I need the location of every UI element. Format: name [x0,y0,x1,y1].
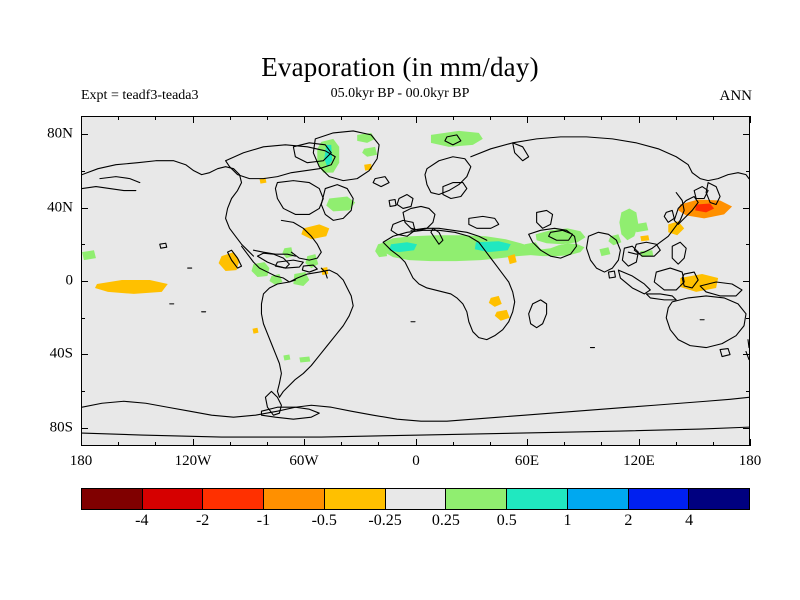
x-tick-major [304,439,305,446]
x-tick-minor-top [676,116,677,120]
y-tick-minor [81,171,85,172]
coast-australia [666,296,746,348]
coast-java [646,294,676,300]
x-tick-minor-top [378,116,379,120]
anomaly-bengal-speck [640,235,649,241]
colorbar-tick-label: 1 [564,512,572,530]
coast-tasmania [720,349,730,357]
x-axis-label: 180 [70,453,93,470]
x-tick-major [193,439,194,446]
x-tick-minor-top [713,116,714,120]
y-axis-label: 40N [19,200,73,217]
x-tick-major-top [639,116,640,123]
colorbar-segment [568,489,629,509]
y-tick-major-right [743,208,750,209]
colorbar-tick-label: -0.5 [312,512,337,530]
coast-british-isles [397,195,413,209]
coast-bering [100,177,140,183]
x-tick-minor-top [341,116,342,120]
colorbar-segment [264,489,325,509]
x-tick-minor [341,442,342,446]
x-tick-minor-top [564,116,565,120]
colorbar-segment [325,489,386,509]
anomaly-greenland-east [357,133,375,143]
colorbar-segment [82,489,143,509]
coast-novaya-zemlya [513,143,529,161]
anomaly-bayofbengal-green [599,247,610,256]
coast-weddell [261,407,319,419]
y-tick-major [81,281,88,282]
colorbar-tick-label: -4 [135,512,148,530]
coast-alaska [82,161,253,256]
x-tick-major [81,439,82,446]
coast-sri-lanka [608,271,615,278]
y-axis-label: 40S [19,346,73,363]
y-tick-major [81,208,88,209]
coast-baltic [443,183,467,199]
y-tick-minor-right [746,171,750,172]
anomaly-north-atlantic [326,197,355,212]
x-tick-minor-top [490,116,491,120]
coast-siberia-east [692,173,749,181]
colorbar-tick-label: 4 [685,512,693,530]
page-title: Evaporation (in mm/day) [0,52,800,83]
y-tick-minor-right [746,391,750,392]
colorbar-tick-label: 2 [624,512,632,530]
x-tick-minor-top [453,116,454,120]
x-tick-minor [230,442,231,446]
x-tick-minor [378,442,379,446]
coast-south-america [261,270,353,397]
x-tick-major-top [193,116,194,123]
experiment-label: Expt = teadf3-teada3 [81,88,199,104]
x-tick-minor [118,442,119,446]
coast-caspian [537,210,553,228]
y-tick-minor [81,318,85,319]
x-tick-minor [155,442,156,446]
anomaly-zambia [495,310,510,321]
coast-scandinavia [425,157,471,195]
colorbar-tick-label: -0.25 [368,512,401,530]
y-tick-major [81,134,88,135]
coast-russia-north [471,137,692,173]
y-axis-label: 80S [19,420,73,437]
x-axis-label: 180 [739,453,762,470]
colorbar-segment [143,489,204,509]
coast-hawaii [160,243,167,248]
x-tick-minor-top [601,116,602,120]
x-tick-major-top [304,116,305,123]
y-tick-minor [81,244,85,245]
x-tick-minor-top [118,116,119,120]
x-axis-label: 60W [289,453,318,470]
coast-antarctica [82,397,749,421]
x-tick-minor-top [155,116,156,120]
x-tick-minor [267,442,268,446]
x-tick-minor [490,442,491,446]
x-tick-major [639,439,640,446]
colorbar-segment [629,489,690,509]
y-tick-minor [81,391,85,392]
coast-europe-west [403,206,435,230]
x-tick-minor-top [230,116,231,120]
coast-iceland [373,177,389,187]
y-tick-major-right [743,354,750,355]
coast-hudson-bay [275,181,323,215]
anomaly-argentina-green [299,357,310,363]
y-tick-major-right [743,134,750,135]
coast-indochina [622,246,638,266]
x-tick-major [750,439,751,446]
map-plot-area [81,116,750,446]
coast-new-zealand [746,340,749,360]
x-tick-major-top [416,116,417,123]
anomaly-central-america [251,262,269,277]
x-tick-major [416,439,417,446]
anomaly-shading-layer [82,131,732,363]
x-tick-minor [564,442,565,446]
anomaly-subtropical-atlantic [301,224,329,239]
anomaly-greenland-southeast [362,147,377,157]
anomaly-norwegian-sea [431,131,483,147]
x-tick-minor [713,442,714,446]
x-tick-minor [601,442,602,446]
x-tick-major-top [81,116,82,123]
colorbar-tick-label: -2 [196,512,209,530]
coast-borneo [654,268,684,290]
x-axis-label: 120E [623,453,655,470]
y-tick-minor-right [746,318,750,319]
coast-aleutians [82,187,136,191]
world-map-svg [82,117,749,445]
coast-specks [170,268,704,348]
coast-sumatra [618,270,650,294]
coast-korea [664,210,674,222]
x-tick-minor [453,442,454,446]
y-axis-label: 80N [19,126,73,143]
x-tick-minor [676,442,677,446]
y-tick-major-right [743,428,750,429]
y-tick-major [81,428,88,429]
anomaly-pacific-equatorial [95,280,168,294]
x-axis-label: 60E [515,453,539,470]
coast-black-sea [469,216,499,228]
x-tick-major-top [750,116,751,123]
coast-antarctica-bottom [82,427,749,437]
colorbar-segment [689,489,749,509]
y-axis-label: 0 [19,273,73,290]
season-label: ANN [720,88,753,105]
coast-philippines [672,242,686,264]
y-tick-major-right [743,281,750,282]
anomaly-patagonia-green [283,355,290,361]
colorbar [81,488,750,510]
colorbar-tick-label: -1 [257,512,270,530]
anomaly-chile-speck [252,328,258,334]
colorbar-segment [386,489,447,509]
y-tick-major [81,354,88,355]
x-tick-major [527,439,528,446]
y-tick-minor-right [746,244,750,245]
colorbar-tick-label: 0.5 [497,512,517,530]
x-axis-label: 120W [175,453,212,470]
colorbar-segment [446,489,507,509]
colorbar-segment [203,489,264,509]
coast-madagascar [529,300,547,328]
x-axis-label: 0 [412,453,420,470]
x-tick-major-top [527,116,528,123]
coastline-layer [82,131,749,437]
colorbar-segment [507,489,568,509]
colorbar-tick-label: 0.25 [432,512,460,530]
x-tick-minor-top [267,116,268,120]
coast-ireland [389,199,396,206]
anomaly-sw-indian-green [82,250,96,260]
anomaly-east-africa [489,296,502,307]
